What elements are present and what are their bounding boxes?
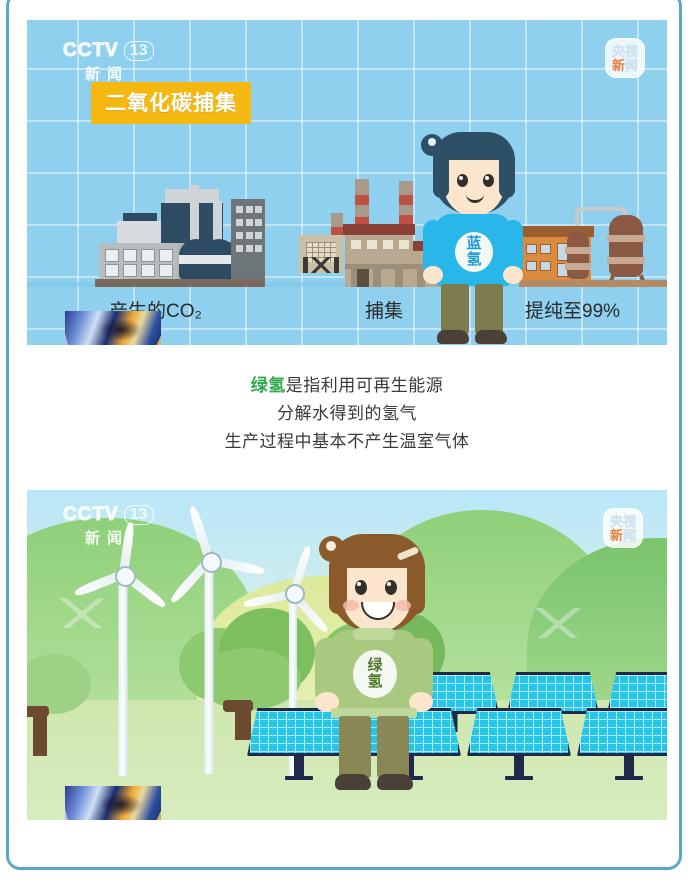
- hill-texture-right: [523, 608, 593, 638]
- cctv-channel-logo: CCTV 13 新闻: [63, 504, 154, 548]
- character-green-hydrogen: 绿 氢: [313, 532, 433, 812]
- cctv-news-app-badge: 央视 新闻: [603, 508, 643, 548]
- cctv-news-app-badge: 央视 新闻: [605, 38, 645, 78]
- leg-right: [377, 716, 409, 778]
- cheek-right: [395, 600, 411, 611]
- caption-line-3: 生产过程中基本不产生温室气体: [0, 428, 694, 456]
- shirt-emblem-line1: 蓝: [466, 236, 481, 252]
- figure-green-hydrogen: 绿 氢 CCTV 13 新闻 央视 新闻: [27, 490, 667, 820]
- leg-right: [475, 284, 503, 334]
- solar-panel-front-3: [577, 708, 667, 756]
- character-blue-hydrogen: 蓝 氢: [419, 128, 525, 345]
- shoe-right: [475, 330, 507, 344]
- caption-line-2: 分解水得到的氢气: [0, 400, 694, 428]
- shoe-left: [335, 774, 371, 790]
- partial-thumbnail-overlay: [65, 786, 161, 820]
- shoe-left: [437, 330, 469, 344]
- cctv-channel-number: 13: [124, 41, 154, 61]
- cctv-wordmark: CCTV: [63, 504, 119, 526]
- topic-banner: 二氧化碳捕集: [91, 82, 251, 124]
- app-badge-line2: 新闻: [612, 59, 638, 72]
- cctv-channel-number: 13: [124, 505, 154, 525]
- caption-line-1: 绿氢是指利用可再生能源: [0, 372, 694, 400]
- shirt-emblem: 蓝 氢: [455, 232, 493, 272]
- cheek-left: [343, 600, 359, 611]
- shirt-emblem-line2: 氢: [367, 674, 382, 690]
- caption-highlight: 绿氢: [251, 376, 286, 395]
- hand-left: [423, 266, 443, 284]
- shoe-right: [377, 774, 413, 790]
- cctv-subtitle: 新闻: [85, 527, 129, 548]
- hand-right: [503, 266, 523, 284]
- shirt-emblem-line1: 绿: [367, 658, 382, 674]
- cctv-subtitle: 新闻: [85, 63, 129, 84]
- shirt-emblem-line2: 氢: [466, 252, 481, 268]
- app-badge-line1: 央视: [612, 45, 638, 58]
- cctv-channel-logo: CCTV 13 新闻: [63, 40, 154, 84]
- eye-right: [385, 580, 397, 595]
- app-badge-line2: 新闻: [610, 529, 636, 542]
- refinery-icon: [519, 187, 667, 287]
- leg-left: [339, 716, 371, 778]
- hair-side-left: [433, 152, 449, 198]
- caption-block: 绿氢是指利用可再生能源 分解水得到的氢气 生产过程中基本不产生温室气体: [0, 372, 694, 456]
- app-badge-line1: 央视: [610, 515, 636, 528]
- collar: [353, 628, 395, 640]
- article-content: CCTV 13 新闻 二氧化碳捕集 央视 新闻: [0, 0, 694, 882]
- label-capture: 捕集: [365, 296, 403, 323]
- cctv-wordmark: CCTV: [63, 40, 119, 62]
- shirt-emblem: 绿 氢: [353, 650, 397, 698]
- eye-right: [483, 174, 494, 187]
- industrial-plant-icon: [95, 182, 265, 287]
- figure-co2-capture: CCTV 13 新闻 二氧化碳捕集 央视 新闻: [27, 20, 667, 345]
- hair-bun-highlight: [428, 138, 436, 146]
- partial-thumbnail-overlay: [65, 311, 161, 345]
- caption-line-1-rest: 是指利用可再生能源: [286, 376, 444, 395]
- label-purify: 提纯至99%: [525, 296, 620, 323]
- eye-left: [457, 174, 468, 187]
- eye-left: [355, 580, 367, 595]
- leg-left: [441, 284, 469, 334]
- hair-side-right: [499, 152, 515, 198]
- solar-panel-front-2: [467, 708, 571, 756]
- topic-banner-label: 二氧化碳捕集: [105, 92, 237, 115]
